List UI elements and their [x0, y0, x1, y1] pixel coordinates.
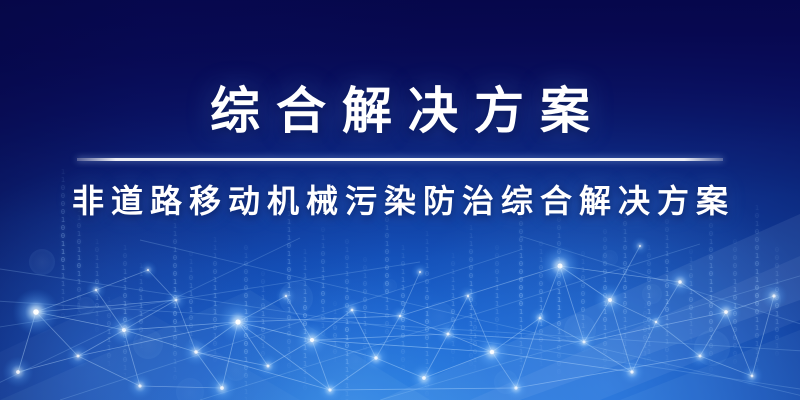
- digital-rain-column-3: 1 0 0 1 1 1 0 1 1 0 0 0 1 0 0 1 1: [120, 244, 130, 380]
- digital-rain-column-37: 1 0 0 0 0 1 1 1: [640, 302, 650, 366]
- digital-rain-column-34: 1 0 0 0 1 1 1 0 1: [104, 296, 114, 368]
- digital-rain-column-1: 1 1 0 1 0 1 1 0 1 1 0 0 1 0: [74, 206, 84, 318]
- tech-banner: 1 1 0 0 0 0 1 0 0 1 1 0 1 1 1 1 1 1 0 1 …: [0, 0, 800, 400]
- digital-rain-column-33: 0 0 0 1 1 0 0 0 1 1 0 0 1 0: [772, 246, 782, 358]
- digital-rain-column-22: 0 1 1 0 0 0 0 1 1 0 1 0 0 1 1 1: [536, 240, 546, 368]
- digital-rain-column-17: 1 1 1 1 1 0 0 1 0 1 1 0 0 0 1 1 1 1 0 0 …: [422, 230, 432, 398]
- digital-rain-column-36: 0 1 1 0 1 0 0 1 1: [470, 300, 480, 372]
- digital-rain-column-7: 1 1 1 0 0 1 1 1 1 1 0 0 1 0 1 0: [210, 236, 220, 364]
- digital-rain-column-9: 0 0 1 1 0 1 1 0 0 1 0 1: [258, 270, 268, 366]
- digital-rain-column-8: 0 1 0 0 0 0 0 1 1 0 0 0 0 0 1 0 0 1 1 1: [241, 244, 251, 400]
- banner-text-block: 综合解决方案 非道路移动机械污染防治综合解决方案: [0, 78, 800, 222]
- digital-rain-column-12: 0 1 1 0 0 1 1 1 0 0 1 0 1 0 0: [318, 226, 328, 346]
- digital-rain-column-30: 0 0 0 1 0 0 1 0 1 1 1 0 0 0 0 1 0 0 0 0: [706, 214, 716, 374]
- digital-rain-column-15: 1 0 0 1 0 1 0 0 0 0 0 0 1 1 0 0 0 1 0: [382, 200, 392, 352]
- digital-rain-column-21: 0 0 1 0 0 0 1 1 0 0 0 0 0 0 1 1 1 1 1 1 …: [516, 196, 526, 380]
- digital-rain-column-6: 0 1 1 0 1 1 0 1 0 0 1 0 0: [186, 250, 196, 354]
- banner-subtitle: 非道路移动机械污染防治综合解决方案: [0, 180, 800, 222]
- digital-rain-column-24: 0 1 1 0 0 0 0 0 1 1 1 0 0: [578, 250, 588, 354]
- title-divider: [77, 158, 723, 161]
- digital-rain-column-26: 0 0 1 0 1 1 0 1 0 0 1 0 1 0 0 1 1 1 1 0 …: [620, 196, 630, 372]
- digital-rain-column-4: 1 1 1 0 1 1 1 0 0 1 1: [136, 262, 146, 350]
- digital-rain-column-23: 0 0 1 0 0 1 1 0 0 1 1 1 1 0 1 1 0 0 0 0: [554, 216, 564, 376]
- digital-rain-column-28: 0 0 1 1 1 0 1 1 0 1 1 0 1 1 1 1 0 1 0: [662, 218, 672, 370]
- digital-rain-column-11: 1 1 1 1 1 1 1 0 0 0 1 1 1 1 1 1 1 0: [300, 248, 310, 392]
- digital-rain-column-29: 0 1 1 0 1 1 0 0 1 1 1 1: [686, 248, 696, 344]
- digital-rain-column-13: 0 1 0 1 1 0 1 0 0 1 1 0 1 0 1 1 1 1 1 1 …: [342, 238, 352, 400]
- digital-rain-column-31: 0 0 0 0 0 1 1 0 1 0 0 0 0 0 0 0: [730, 238, 740, 366]
- digital-rain-column-16: 1 1 0 1 1 1 0 0 0 0 0 0 1 0 0 0: [398, 244, 408, 372]
- digital-rain-column-32: 1 0 1 0 0 0 1 0 1 1 0 0 0 0 1 1 0 1 1 0 …: [752, 204, 762, 372]
- digital-rain-column-5: 1 1 1 0 1 0 0 0 1 1 0 1 0 0 1 0 0 0 1 1 …: [170, 214, 180, 382]
- digital-rain-column-18: 1 0 1 1 1 1 1 0 0 1 1 1 0 1: [448, 252, 458, 364]
- banner-title: 综合解决方案: [0, 78, 800, 144]
- digital-rain-column-14: 0 0 1 0 0 0 0 1 1 1 0 0 1: [360, 256, 370, 360]
- digital-rain-column-2: 1 0 1 1 1 0 0 1 0 1 1 0: [92, 238, 102, 334]
- digital-rain-column-25: 0 0 0 0 0 0 1 0 0 1 1 0 1 1 0 0 0 0: [600, 228, 610, 372]
- digital-rain-column-35: 0 1 0 0 0 1 0 1: [330, 300, 340, 364]
- digital-rain-column-20: 0 0 0 0 1 1 1 1 1 0 1 0: [492, 244, 502, 340]
